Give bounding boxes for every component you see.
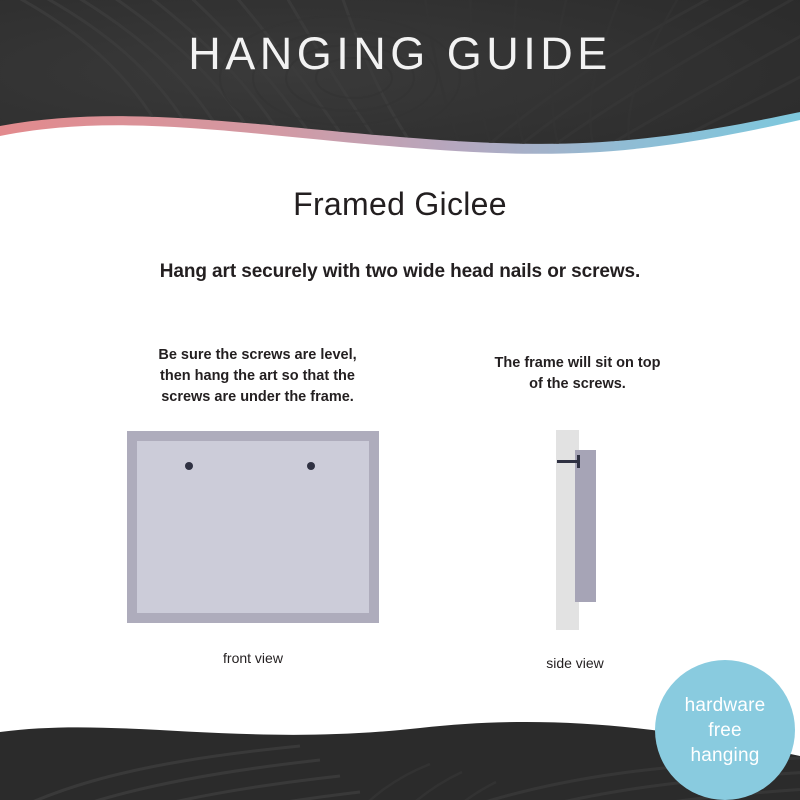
page-title: HANGING GUIDE <box>0 28 800 80</box>
front-view-instructions-line-2: then hang the art so that the <box>125 366 390 387</box>
side-view-instructions-line-1: The frame will sit on top <box>455 353 700 374</box>
badge-line-2: free <box>708 718 742 743</box>
screw-dot-left-icon <box>185 462 193 470</box>
side-view-frame <box>575 450 596 602</box>
front-view-frame-diagram <box>127 431 379 623</box>
front-view-instructions-line-1: Be sure the screws are level, <box>125 345 390 366</box>
badge-line-1: hardware <box>685 693 766 718</box>
side-view-instructions: The frame will sit on top of the screws. <box>455 353 700 395</box>
side-view-screw-head-icon <box>577 455 580 468</box>
hanging-guide-page: HANGING GUIDE Framed Giclee Hang art sec… <box>0 0 800 800</box>
side-view-instructions-line-2: of the screws. <box>455 374 700 395</box>
front-view-instructions-line-3: screws are under the frame. <box>125 387 390 408</box>
side-view-screw-shaft-icon <box>557 460 579 463</box>
product-title: Framed Giclee <box>0 186 800 223</box>
header-wave-graphic <box>0 0 800 160</box>
header-banner: HANGING GUIDE <box>0 0 800 160</box>
screw-dot-right-icon <box>307 462 315 470</box>
front-view-instructions: Be sure the screws are level, then hang … <box>125 345 390 408</box>
badge-line-3: hanging <box>690 743 759 768</box>
front-view-frame-interior <box>137 441 369 613</box>
page-subtitle: Hang art securely with two wide head nai… <box>0 261 800 283</box>
hardware-free-hanging-badge: hardware free hanging <box>655 660 795 800</box>
